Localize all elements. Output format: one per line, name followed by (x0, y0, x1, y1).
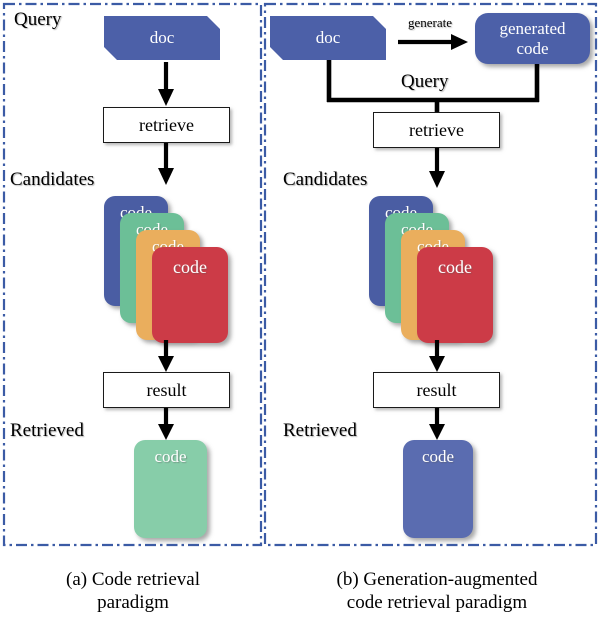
panel-a-result-card[interactable]: code (134, 440, 207, 538)
panel-a-retrieve-label: retrieve (139, 115, 194, 136)
panel-b-retrieve-label: retrieve (409, 120, 464, 141)
figure-canvas: Query doc retrieve Candidates code code … (0, 0, 600, 626)
panel-a-query-label: Query (14, 10, 61, 29)
panel-a-result-card-label: code (134, 447, 207, 467)
panel-a-retrieved-label: Retrieved (10, 421, 84, 440)
panel-b-retrieve-box[interactable]: retrieve (373, 112, 500, 148)
panel-b-arrow-candidates-to-result (420, 340, 456, 374)
panel-a-result-label: result (147, 380, 187, 401)
panel-b-generated-code-line2: code (516, 39, 548, 58)
panel-a-doc-node[interactable]: doc (104, 16, 220, 60)
panel-b-result-card[interactable]: code (403, 440, 473, 538)
panel-a-arrow-result-to-retrieved (150, 408, 190, 442)
panel-b-candidates-label: Candidates (283, 170, 367, 189)
panel-b-generated-code-label: generatedcode (499, 19, 565, 57)
panel-a-arrow-candidates-to-result (150, 340, 190, 374)
panel-b-arrow-retrieve-to-candidates (420, 148, 456, 190)
panel-b-caption: (b) Generation-augmented code retrieval … (282, 568, 592, 614)
panel-b-retrieved-label: Retrieved (283, 421, 357, 440)
panel-b-result-card-label: code (403, 447, 473, 467)
panel-b-doc-label: doc (316, 28, 341, 48)
panel-b-doc-node[interactable]: doc (270, 16, 386, 60)
panel-a-caption-line2: paradigm (18, 591, 248, 614)
panel-a-candidates-label: Candidates (10, 170, 94, 189)
panel-a-candidate-label-4: code (152, 257, 228, 278)
panel-a-result-box[interactable]: result (103, 372, 230, 408)
panel-b-query-label: Query (401, 72, 448, 91)
panel-b-caption-line1: (b) Generation-augmented (282, 568, 592, 591)
panel-b-generate-label: generate (408, 15, 452, 31)
panel-b-arrow-query-to-retrieve (420, 99, 456, 113)
panel-b-generated-code-node[interactable]: generatedcode (475, 13, 590, 64)
panel-b-caption-line2: code retrieval paradigm (282, 591, 592, 614)
panel-a-arrow-retrieve-to-candidates (150, 143, 190, 187)
panel-b-result-box[interactable]: result (373, 372, 500, 408)
panel-a-arrow-doc-to-retrieve (150, 62, 190, 108)
panel-a-caption: (a) Code retrieval paradigm (18, 568, 248, 614)
panel-a-retrieve-box[interactable]: retrieve (103, 107, 230, 143)
panel-b-result-label: result (417, 380, 457, 401)
panel-b-arrow-result-to-retrieved (420, 408, 456, 442)
panel-b-candidate-card-4[interactable]: code (417, 247, 493, 343)
panel-a-candidate-card-4[interactable]: code (152, 247, 228, 343)
panel-a-caption-line1: (a) Code retrieval (18, 568, 248, 591)
panel-b-candidate-label-4: code (417, 257, 493, 278)
panel-a-doc-label: doc (150, 28, 175, 48)
panel-b-generated-code-line1: generated (499, 19, 565, 38)
panel-b-arrow-generate (398, 33, 470, 51)
